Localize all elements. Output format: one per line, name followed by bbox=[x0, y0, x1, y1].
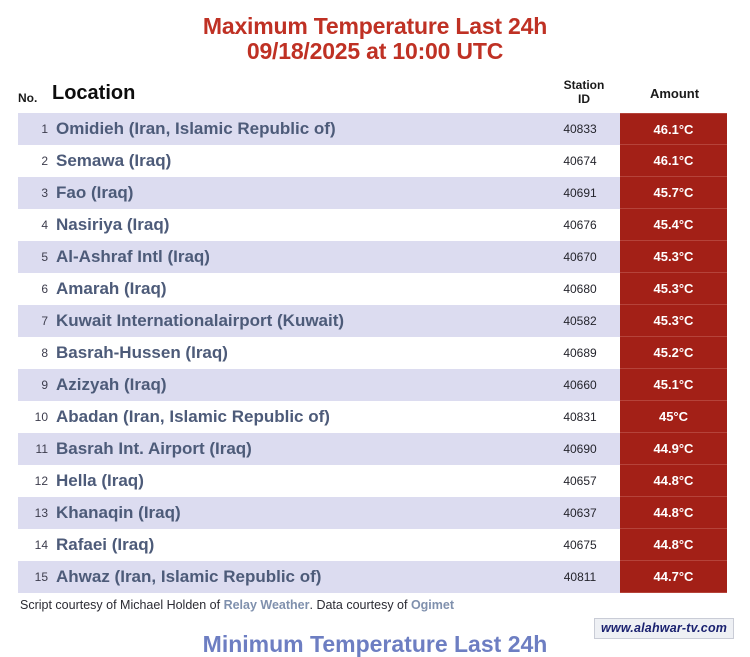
table-row: 6Amarah (Iraq)4068045.3°C bbox=[0, 273, 750, 305]
cell-location: Azizyah (Iraq) bbox=[56, 369, 167, 401]
cell-location: Kuwait Internationalairport (Kuwait) bbox=[56, 305, 344, 337]
column-header-station-id-line1: Station bbox=[548, 78, 620, 92]
cell-amount: 45.4°C bbox=[620, 209, 727, 241]
title-line-2: 09/18/2025 at 10:00 UTC bbox=[0, 39, 750, 64]
cell-location: Abadan (Iran, Islamic Republic of) bbox=[56, 401, 330, 433]
table-row: 4Nasiriya (Iraq)4067645.4°C bbox=[0, 209, 750, 241]
cell-rank: 8 bbox=[18, 337, 48, 369]
table-row: 7Kuwait Internationalairport (Kuwait)405… bbox=[0, 305, 750, 337]
table-row: 5Al-Ashraf Intl (Iraq)4067045.3°C bbox=[0, 241, 750, 273]
cell-location: Al-Ashraf Intl (Iraq) bbox=[56, 241, 210, 273]
cell-location: Rafaei (Iraq) bbox=[56, 529, 154, 561]
cell-amount: 45.2°C bbox=[620, 337, 727, 369]
cell-location: Amarah (Iraq) bbox=[56, 273, 167, 305]
table-row: 14Rafaei (Iraq)4067544.8°C bbox=[0, 529, 750, 561]
relay-weather-link[interactable]: Relay Weather bbox=[224, 598, 310, 612]
cell-rank: 11 bbox=[18, 433, 48, 465]
cell-location: Nasiriya (Iraq) bbox=[56, 209, 169, 241]
cell-location: Ahwaz (Iran, Islamic Republic of) bbox=[56, 561, 321, 593]
cell-rank: 4 bbox=[18, 209, 48, 241]
table-row: 1Omidieh (Iran, Islamic Republic of)4083… bbox=[0, 113, 750, 145]
cell-station-id: 40833 bbox=[548, 113, 612, 145]
next-section-title: Minimum Temperature Last 24h bbox=[0, 632, 750, 657]
cell-amount: 44.8°C bbox=[620, 465, 727, 497]
column-header-amount: Amount bbox=[622, 86, 727, 101]
cell-rank: 13 bbox=[18, 497, 48, 529]
cell-location: Semawa (Iraq) bbox=[56, 145, 171, 177]
footer-text-part2: . Data courtesy of bbox=[310, 598, 411, 612]
cell-amount: 45.3°C bbox=[620, 241, 727, 273]
cell-station-id: 40676 bbox=[548, 209, 612, 241]
cell-station-id: 40637 bbox=[548, 497, 612, 529]
cell-amount: 44.9°C bbox=[620, 433, 727, 465]
cell-amount: 45°C bbox=[620, 401, 727, 433]
cell-amount: 45.3°C bbox=[620, 305, 727, 337]
footer-credits: Script courtesy of Michael Holden of Rel… bbox=[20, 598, 454, 612]
cell-station-id: 40831 bbox=[548, 401, 612, 433]
column-header-station-id-line2: ID bbox=[548, 92, 620, 106]
cell-station-id: 40680 bbox=[548, 273, 612, 305]
column-header-station-id: Station ID bbox=[548, 78, 620, 106]
table-row: 15Ahwaz (Iran, Islamic Republic of)40811… bbox=[0, 561, 750, 593]
cell-location: Basrah Int. Airport (Iraq) bbox=[56, 433, 252, 465]
cell-station-id: 40675 bbox=[548, 529, 612, 561]
cell-station-id: 40657 bbox=[548, 465, 612, 497]
cell-location: Omidieh (Iran, Islamic Republic of) bbox=[56, 113, 336, 145]
cell-rank: 12 bbox=[18, 465, 48, 497]
cell-station-id: 40690 bbox=[548, 433, 612, 465]
table-row: 13Khanaqin (Iraq)4063744.8°C bbox=[0, 497, 750, 529]
cell-rank: 14 bbox=[18, 529, 48, 561]
column-header-no: No. bbox=[18, 91, 37, 105]
cell-rank: 1 bbox=[18, 113, 48, 145]
table-row: 12Hella (Iraq)4065744.8°C bbox=[0, 465, 750, 497]
cell-rank: 2 bbox=[18, 145, 48, 177]
table-row: 9Azizyah (Iraq)4066045.1°C bbox=[0, 369, 750, 401]
table-row: 3Fao (Iraq)4069145.7°C bbox=[0, 177, 750, 209]
cell-amount: 44.8°C bbox=[620, 529, 727, 561]
cell-station-id: 40689 bbox=[548, 337, 612, 369]
cell-rank: 10 bbox=[18, 401, 48, 433]
table-row: 8Basrah-Hussen (Iraq)4068945.2°C bbox=[0, 337, 750, 369]
table-row: 10Abadan (Iran, Islamic Republic of)4083… bbox=[0, 401, 750, 433]
table-row: 2Semawa (Iraq)4067446.1°C bbox=[0, 145, 750, 177]
cell-station-id: 40582 bbox=[548, 305, 612, 337]
cell-rank: 15 bbox=[18, 561, 48, 593]
ogimet-link[interactable]: Ogimet bbox=[411, 598, 454, 612]
page-title: Maximum Temperature Last 24h 09/18/2025 … bbox=[0, 0, 750, 64]
column-header-location: Location bbox=[52, 82, 135, 105]
cell-rank: 6 bbox=[18, 273, 48, 305]
cell-amount: 45.7°C bbox=[620, 177, 727, 209]
cell-rank: 7 bbox=[18, 305, 48, 337]
cell-station-id: 40811 bbox=[548, 561, 612, 593]
cell-station-id: 40660 bbox=[548, 369, 612, 401]
cell-location: Khanaqin (Iraq) bbox=[56, 497, 181, 529]
cell-station-id: 40670 bbox=[548, 241, 612, 273]
cell-amount: 46.1°C bbox=[620, 145, 727, 177]
cell-rank: 5 bbox=[18, 241, 48, 273]
table-column-header: No. Location Station ID Amount bbox=[0, 74, 750, 110]
cell-amount: 44.8°C bbox=[620, 497, 727, 529]
cell-amount: 44.7°C bbox=[620, 561, 727, 593]
cell-location: Fao (Iraq) bbox=[56, 177, 133, 209]
table-row: 11Basrah Int. Airport (Iraq)4069044.9°C bbox=[0, 433, 750, 465]
footer-text-part1: Script courtesy of Michael Holden of bbox=[20, 598, 224, 612]
cell-location: Basrah-Hussen (Iraq) bbox=[56, 337, 228, 369]
cell-amount: 46.1°C bbox=[620, 113, 727, 145]
title-line-1: Maximum Temperature Last 24h bbox=[0, 14, 750, 39]
cell-station-id: 40674 bbox=[548, 145, 612, 177]
cell-station-id: 40691 bbox=[548, 177, 612, 209]
cell-amount: 45.1°C bbox=[620, 369, 727, 401]
cell-location: Hella (Iraq) bbox=[56, 465, 144, 497]
cell-rank: 3 bbox=[18, 177, 48, 209]
cell-rank: 9 bbox=[18, 369, 48, 401]
temperature-table: 1Omidieh (Iran, Islamic Republic of)4083… bbox=[0, 113, 750, 593]
cell-amount: 45.3°C bbox=[620, 273, 727, 305]
